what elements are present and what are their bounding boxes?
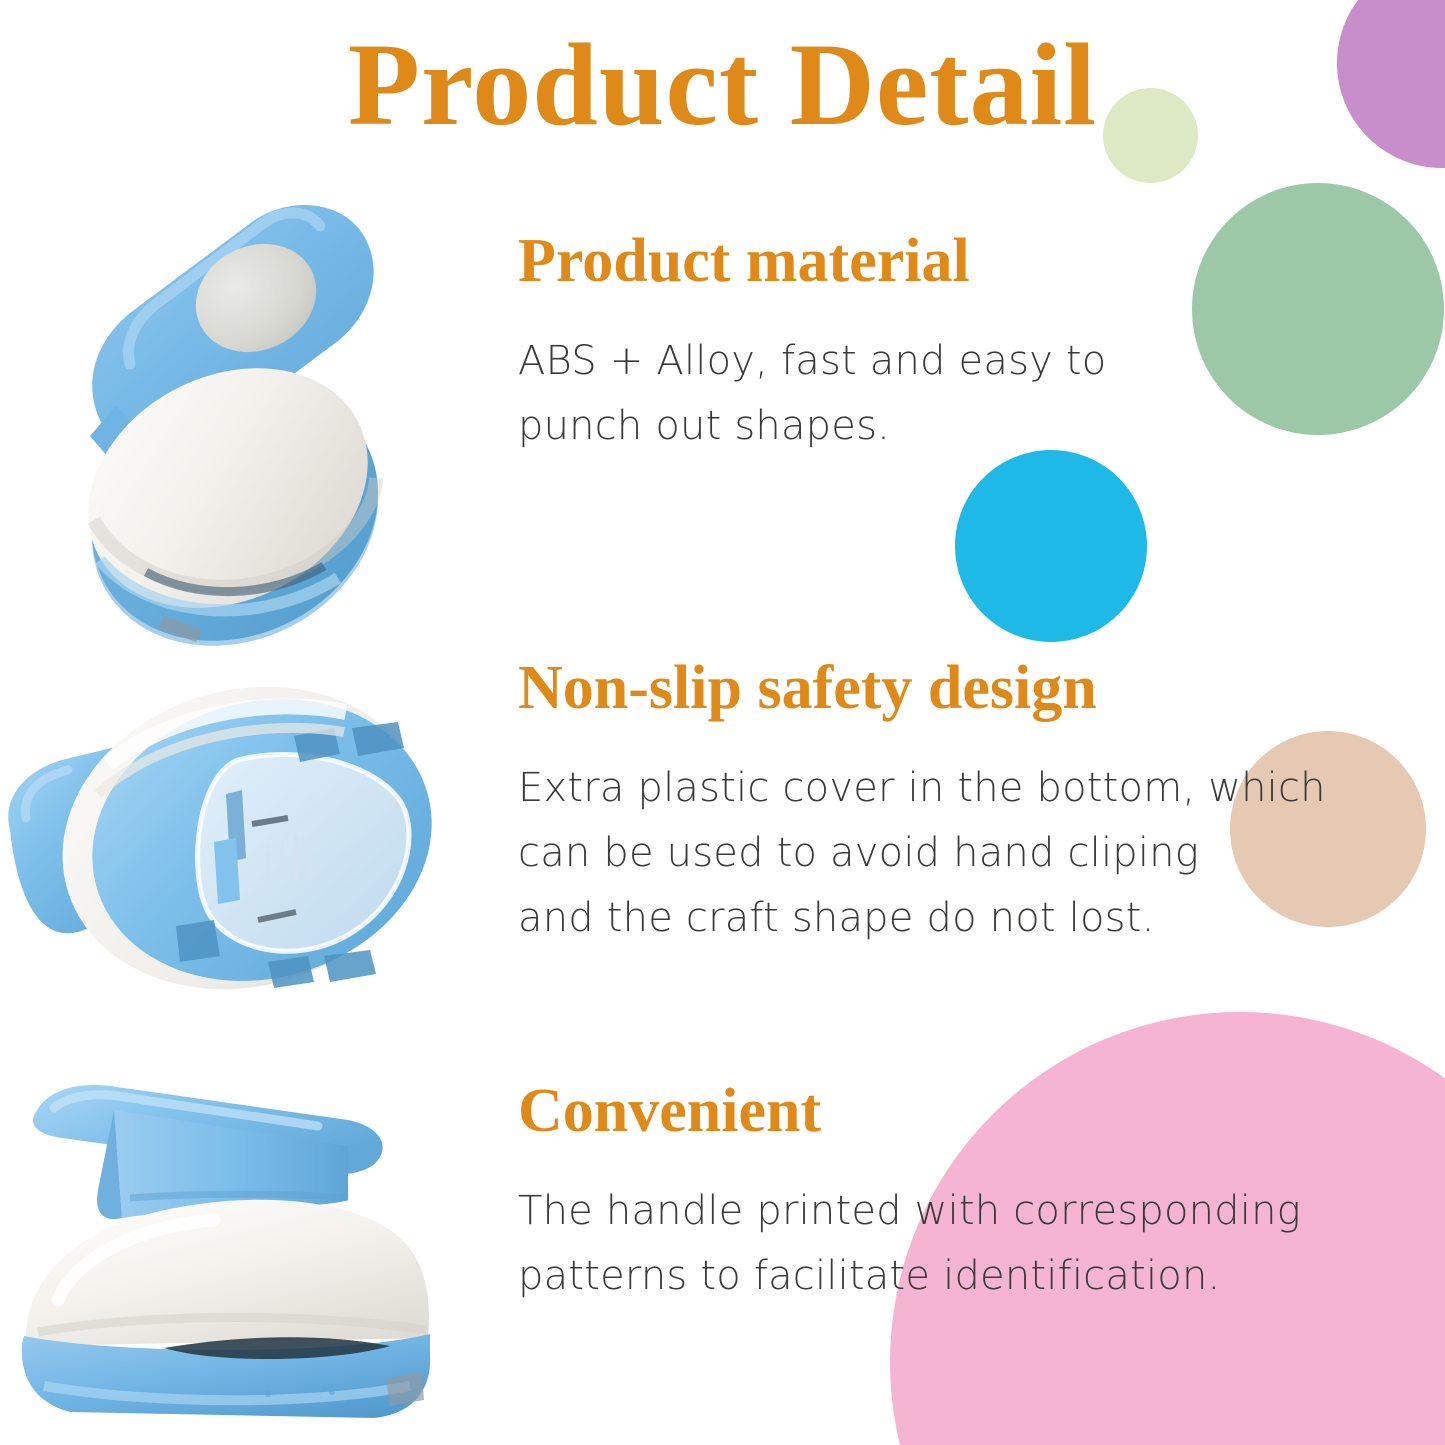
body-line: patterns to facilitate identification. <box>518 1244 1398 1309</box>
section-body-non-slip-safety-design: Extra plastic cover in the bottom, which… <box>518 756 1398 950</box>
section-body-product-material: ABS + Alloy, fast and easy to punch out … <box>518 329 1398 459</box>
body-line: ABS + Alloy, fast and easy to <box>518 329 1398 394</box>
section-heading-convenient: Convenient <box>518 1078 1398 1145</box>
body-line: punch out shapes. <box>518 394 1398 459</box>
section-product-material: Product material ABS + Alloy, fast and e… <box>518 228 1398 459</box>
body-line: The handle printed with corresponding <box>518 1179 1398 1244</box>
page-title: Product Detail <box>0 26 1445 144</box>
section-heading-product-material: Product material <box>518 228 1398 295</box>
product-detail-infographic: Product Detail <box>0 0 1445 1445</box>
product-photo-underside <box>0 668 470 1030</box>
section-heading-non-slip-safety-design: Non-slip safety design <box>518 655 1398 722</box>
body-line: Extra plastic cover in the bottom, which <box>518 756 1398 821</box>
section-convenient: Convenient The handle printed with corre… <box>518 1078 1398 1309</box>
body-line: can be used to avoid hand cliping <box>518 821 1398 886</box>
body-line: and the craft shape do not lost. <box>518 886 1398 951</box>
product-photo-side-profile <box>18 1068 468 1445</box>
section-body-convenient: The handle printed with corresponding pa… <box>518 1179 1398 1309</box>
section-non-slip-safety-design: Non-slip safety design Extra plastic cov… <box>518 655 1398 950</box>
product-photo-handle-up <box>38 168 438 658</box>
